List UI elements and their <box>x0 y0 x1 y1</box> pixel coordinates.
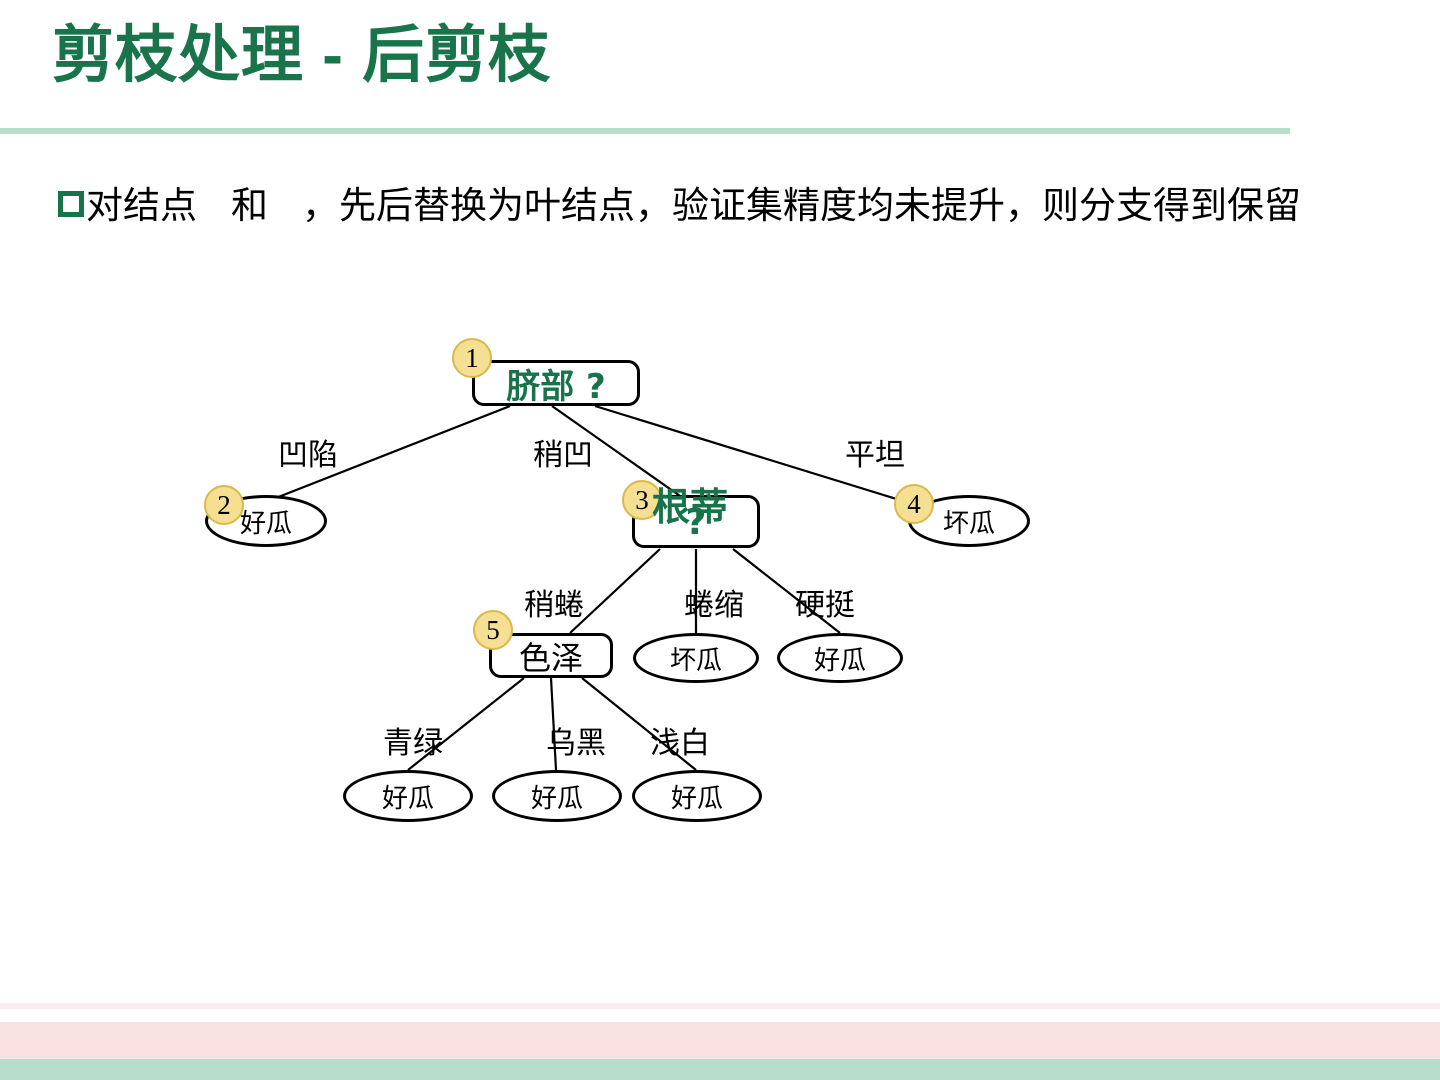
footer-band-green <box>0 1059 1440 1080</box>
edge-label-aoxian: 凹陷 <box>278 430 338 474</box>
edge-label-qianbai: 浅白 <box>650 718 710 762</box>
edge-label-shaoao: 稍凹 <box>533 430 593 474</box>
decision-tree-nodes: 脐部 ? 1 凹陷 稍凹 平坦 好瓜 2 ? 根蒂 3 坏瓜 4 稍蜷 蜷缩 硬… <box>0 0 1440 1080</box>
edge-label-qinglv: 青绿 <box>383 718 443 762</box>
node-badge-2: 2 <box>204 485 244 525</box>
node-badge-5: 5 <box>473 610 513 650</box>
edge-label-pingtan: 平坦 <box>845 430 905 474</box>
footer-band-pink <box>0 1022 1440 1059</box>
tree-leaf-node-huaigua-1[interactable]: 坏瓜 <box>633 633 759 683</box>
tree-leaf-node-haogua-2[interactable]: 好瓜 <box>343 770 473 822</box>
tree-node-1[interactable]: 脐部 ? <box>472 360 640 406</box>
node-badge-1: 1 <box>452 338 492 378</box>
edge-label-wuhei: 乌黑 <box>546 718 606 762</box>
tree-leaf-node-haogua-4[interactable]: 好瓜 <box>632 770 762 822</box>
edge-label-quansuo: 蜷缩 <box>684 580 744 624</box>
node-badge-4: 4 <box>894 484 934 524</box>
footer-accent-line <box>0 1003 1440 1009</box>
tree-node-3-label-top: 根蒂 <box>652 476 728 531</box>
tree-leaf-node-haogua-1[interactable]: 好瓜 <box>777 633 903 683</box>
edge-label-shaoquan: 稍蜷 <box>524 580 584 624</box>
edge-label-yingting: 硬挺 <box>795 580 855 624</box>
tree-leaf-node-haogua-3[interactable]: 好瓜 <box>492 770 622 822</box>
